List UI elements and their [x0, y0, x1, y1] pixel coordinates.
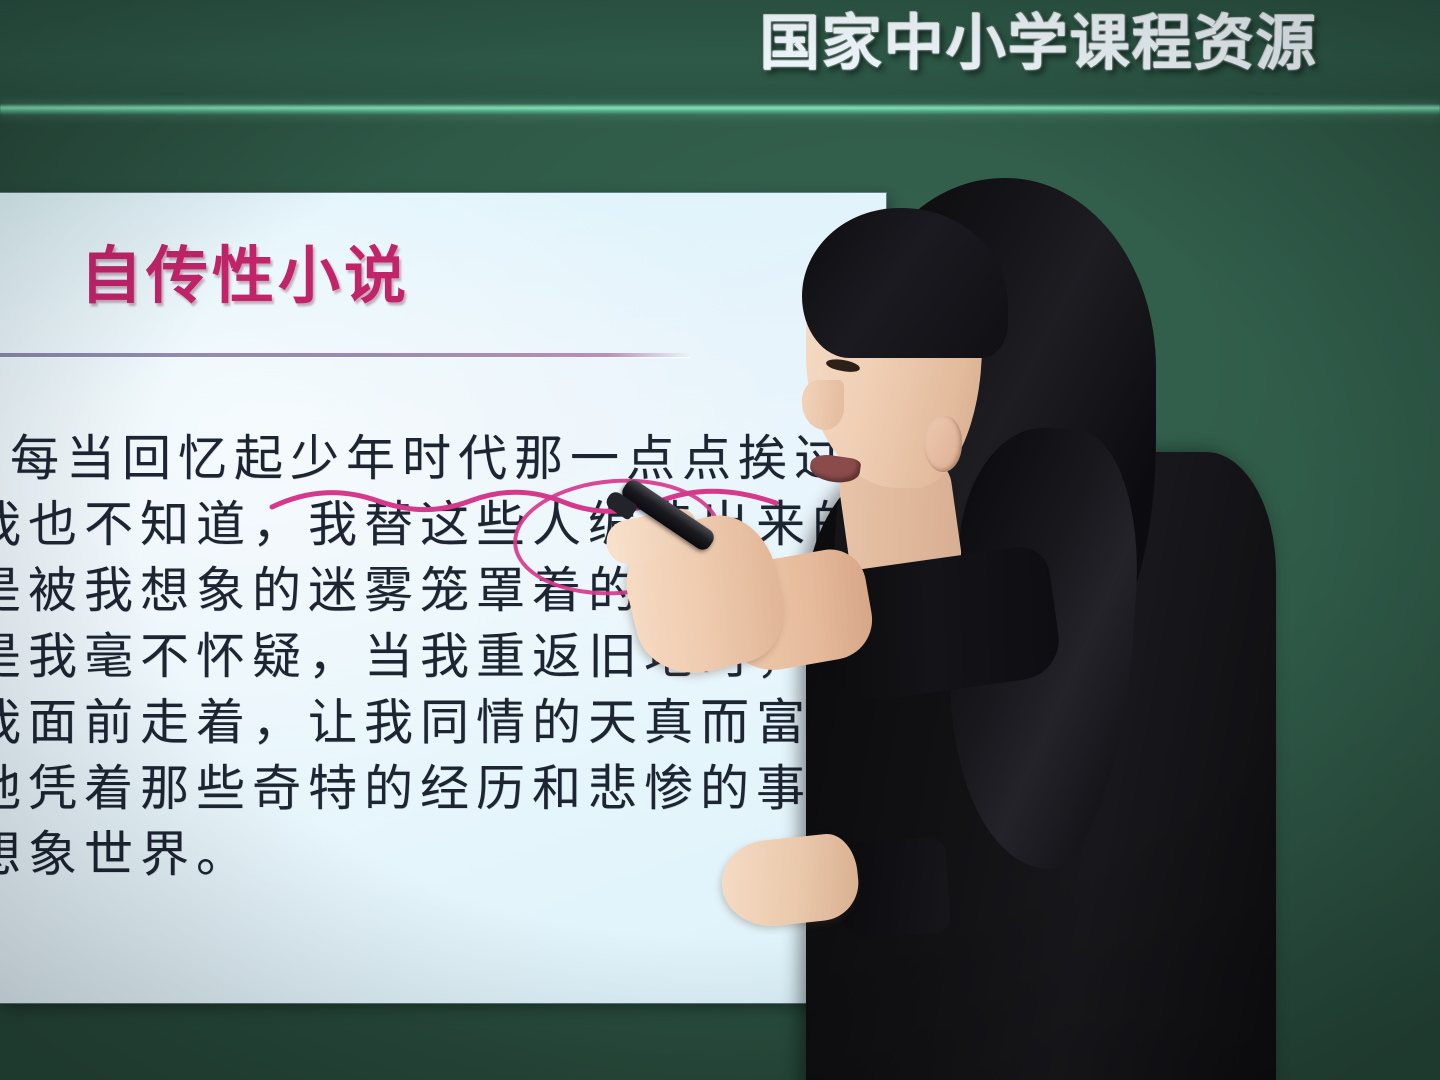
channel-watermark: 国家中小学课程资源: [760, 14, 1318, 74]
slide-body-line: 是被我想象的迷雾笼罩着的记得: [0, 558, 886, 624]
slide-title: 自传性小说: [80, 245, 410, 307]
title-divider: [0, 353, 690, 357]
chalkboard-rail: [0, 104, 1440, 115]
slide-body-line: 每当回忆起少年时代那一点点挨过: [10, 426, 886, 492]
slide-body-line: 想象世界。: [0, 822, 886, 888]
slide-body-line: 我面前走着，让我同情的天真而富有: [0, 690, 886, 756]
video-frame: 国家中小学课程资源 自传性小说 每当回忆起少年时代那一点点挨过 我也不知道，我替…: [0, 0, 1440, 1080]
slide-body-line: 我也不知道，我替这些人编造出来的: [0, 492, 886, 558]
projection-screen: 自传性小说 每当回忆起少年时代那一点点挨过 我也不知道，我替这些人编造出来的 是…: [0, 193, 886, 1003]
slide-body-line: 是我毫不怀疑，当我重返旧地时，我: [0, 624, 886, 690]
slide-body: 每当回忆起少年时代那一点点挨过 我也不知道，我替这些人编造出来的 是被我想象的迷…: [0, 426, 886, 888]
slide-body-line: 他凭着那些奇特的经历和悲惨的事件，: [0, 756, 886, 822]
